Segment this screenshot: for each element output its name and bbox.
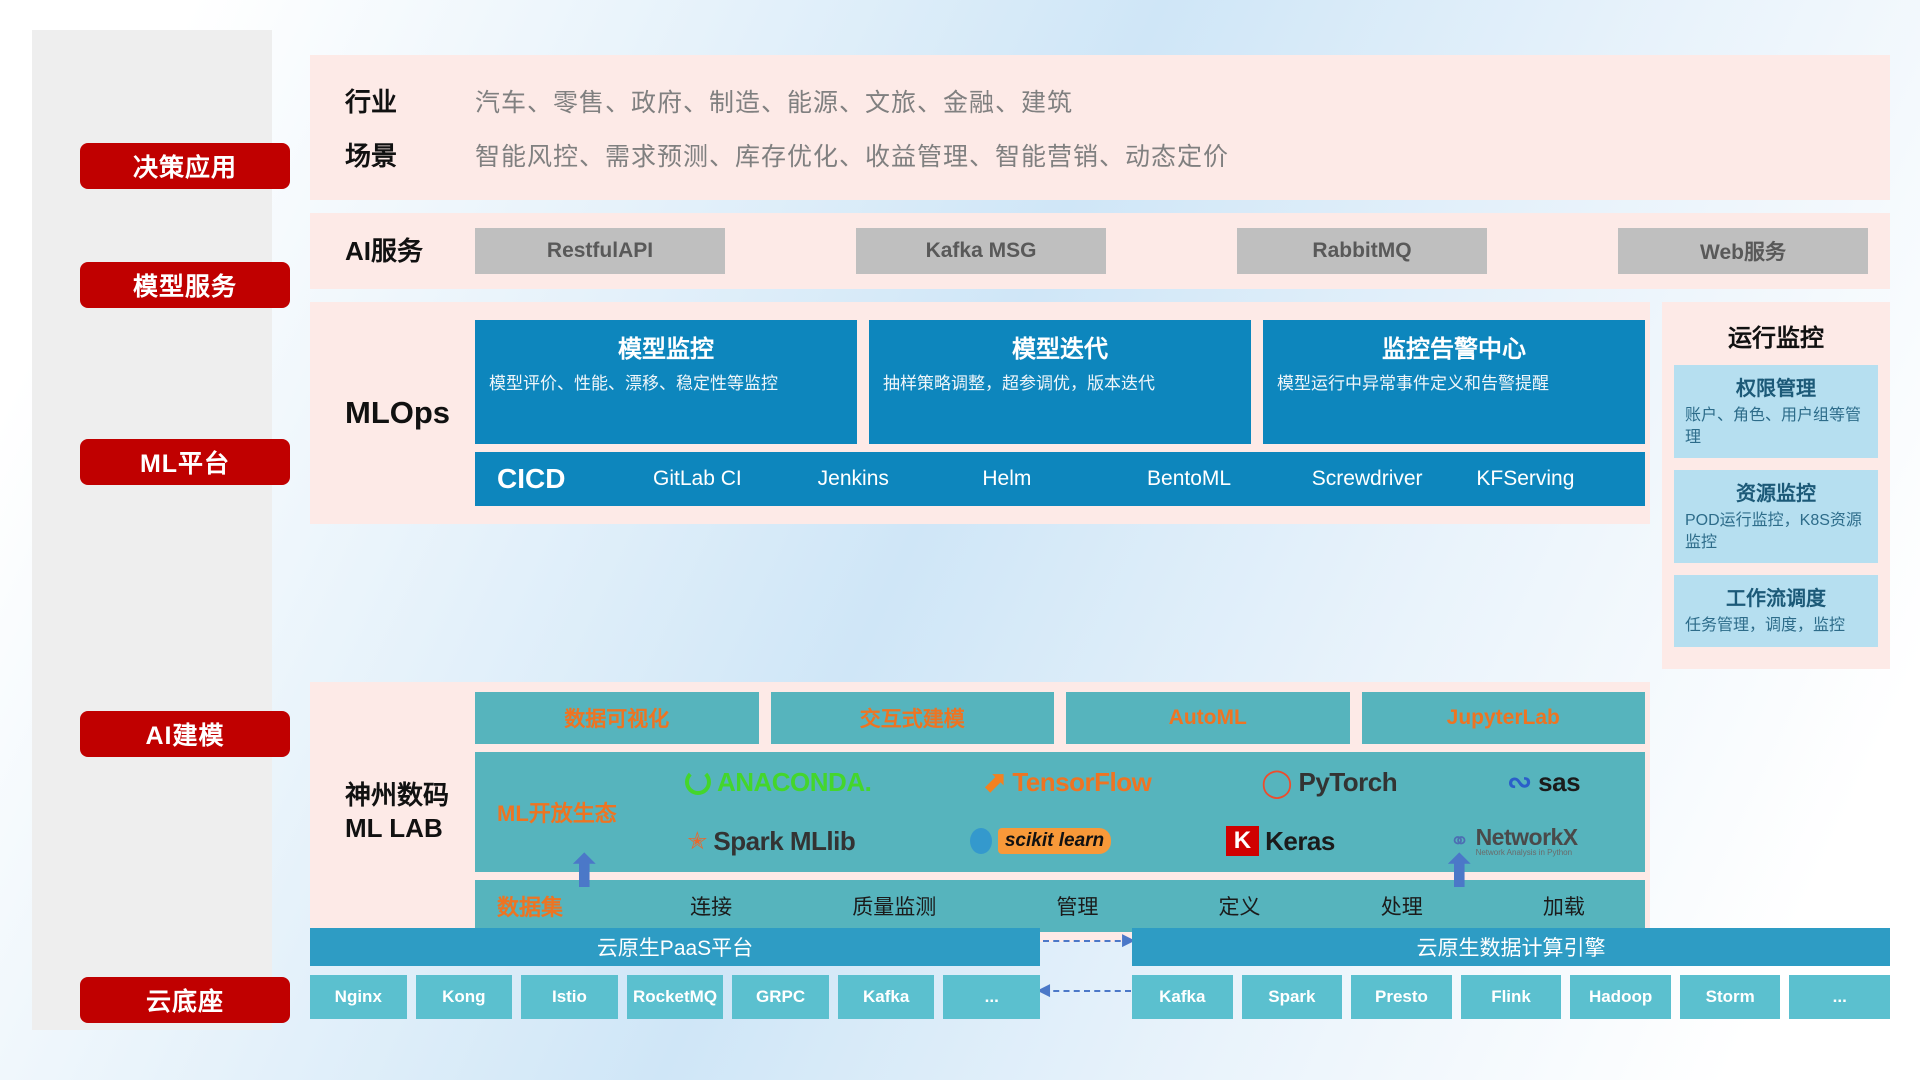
stage-chip-label: 云底座 (146, 982, 224, 1018)
ml-lab-tool-interactive-modeling[interactable]: 交互式建模 (771, 692, 1055, 744)
monitor-card-resource[interactable]: 资源监控 POD运行监控，K8S资源监控 (1674, 470, 1878, 563)
monitor-card-desc: 任务管理，调度，监控 (1685, 615, 1867, 637)
runtime-monitor-title: 运行监控 (1674, 318, 1878, 353)
tech-chip-more-engine[interactable]: ... (1789, 975, 1890, 1019)
industry-value: 汽车、零售、政府、制造、能源、文旅、金融、建筑 (475, 83, 1073, 119)
tech-chip-rocketmq[interactable]: RocketMQ (627, 975, 724, 1019)
scikit-learn-logo-text: scikit learn (998, 828, 1111, 854)
service-chip-rabbitmq[interactable]: RabbitMQ (1237, 228, 1487, 274)
cicd-title: CICD (497, 463, 647, 495)
service-chip-label: Kafka MSG (926, 239, 1037, 263)
ml-ecosystem-label: ML开放生态 (475, 796, 630, 828)
ai-service-list: RestfulAPI Kafka MSG RabbitMQ Web服务 (475, 228, 1890, 274)
spark-mllib-logo: ✭ Spark MLlib (687, 826, 855, 857)
service-chip-restfulapi[interactable]: RestfulAPI (475, 228, 725, 274)
tensorflow-logo-text: TensorFlow (1012, 767, 1151, 798)
ml-ecosystem-logos: ANACONDA. ⬈ TensorFlow ◯ PyTorch ∾ sas (630, 754, 1645, 869)
mlops-card-model-monitoring[interactable]: 模型监控 模型评价、性能、漂移、稳定性等监控 (475, 320, 857, 444)
scenario-key: 场景 (345, 136, 475, 173)
cicd-item-gitlab-ci[interactable]: GitLab CI (647, 467, 812, 491)
stage-chip-decision-app[interactable]: 决策应用 (80, 143, 290, 189)
cicd-item-screwdriver[interactable]: Screwdriver (1306, 467, 1471, 491)
industry-key: 行业 (345, 82, 475, 119)
tech-chip-nginx[interactable]: Nginx (310, 975, 407, 1019)
tensorflow-icon: ⬈ (981, 765, 1006, 800)
scenario-row: 场景 智能风控、需求预测、库存优化、收益管理、智能营销、动态定价 (345, 136, 1890, 173)
cicd-bar: CICD GitLab CI Jenkins Helm BentoML Scre… (475, 452, 1645, 506)
pytorch-icon: ◯ (1261, 766, 1292, 799)
cicd-item-kfserving[interactable]: KFServing (1470, 467, 1635, 491)
service-chip-label: RestfulAPI (547, 239, 653, 263)
dashed-connector-right (1043, 940, 1131, 942)
ai-service-label: AI服务 (345, 235, 475, 268)
stage-chip-cloud-base[interactable]: 云底座 (80, 977, 290, 1023)
tech-chip-more[interactable]: ... (943, 975, 1040, 1019)
tech-chip-spark[interactable]: Spark (1242, 975, 1343, 1019)
industry-scenario-band: 行业 汽车、零售、政府、制造、能源、文旅、金融、建筑 场景 智能风控、需求预测、… (310, 55, 1890, 200)
sas-icon: ∾ (1507, 765, 1532, 800)
tech-chip-kafka-engine[interactable]: Kafka (1132, 975, 1233, 1019)
spark-star-icon: ✭ (687, 827, 707, 856)
tensorflow-logo: ⬈ TensorFlow (981, 765, 1151, 800)
ml-lab-label: 神州数码 ML LAB (345, 779, 475, 844)
pytorch-logo-text: PyTorch (1299, 767, 1398, 798)
stage-chip-ai-modeling[interactable]: AI建模 (80, 711, 290, 757)
monitor-card-title: 工作流调度 (1685, 582, 1867, 611)
monitor-card-permission[interactable]: 权限管理 账户、角色、用户组等管理 (1674, 365, 1878, 458)
tech-chip-flink[interactable]: Flink (1461, 975, 1562, 1019)
monitor-card-desc: POD运行监控，K8S资源监控 (1685, 510, 1867, 553)
mlops-content: 模型监控 模型评价、性能、漂移、稳定性等监控 模型迭代 抽样策略调整，超参调优，… (475, 320, 1650, 506)
mlops-card-alert-center[interactable]: 监控告警中心 模型运行中异常事件定义和告警提醒 (1263, 320, 1645, 444)
cicd-item-jenkins[interactable]: Jenkins (812, 467, 977, 491)
cloud-data-engine-group: 云原生数据计算引擎 Kafka Spark Presto Flink Hadoo… (1132, 928, 1890, 1019)
mlops-card-desc: 模型运行中异常事件定义和告警提醒 (1277, 372, 1631, 395)
mlops-band: MLOps 模型监控 模型评价、性能、漂移、稳定性等监控 模型迭代 抽样策略调整… (310, 302, 1650, 524)
cicd-item-bentoml[interactable]: BentoML (1141, 467, 1306, 491)
stage-chip-model-service[interactable]: 模型服务 (80, 262, 290, 308)
service-chip-web-service[interactable]: Web服务 (1618, 228, 1868, 274)
networkx-logo-text: NetworkX (1476, 826, 1578, 849)
architecture-main: 行业 汽车、零售、政府、制造、能源、文旅、金融、建筑 场景 智能风控、需求预测、… (310, 55, 1890, 942)
mlops-card-desc: 模型评价、性能、漂移、稳定性等监控 (489, 372, 843, 395)
tech-chip-storm[interactable]: Storm (1680, 975, 1781, 1019)
service-chip-kafka-msg[interactable]: Kafka MSG (856, 228, 1106, 274)
tech-chip-presto[interactable]: Presto (1351, 975, 1452, 1019)
ml-lab-tool-data-visualization[interactable]: 数据可视化 (475, 692, 759, 744)
ml-lab-tool-automl[interactable]: AutoML (1066, 692, 1350, 744)
runtime-monitor-rail: 运行监控 权限管理 账户、角色、用户组等管理 资源监控 POD运行监控，K8S资… (1662, 302, 1890, 669)
monitor-card-workflow[interactable]: 工作流调度 任务管理，调度，监控 (1674, 575, 1878, 647)
logo-row-2: ✭ Spark MLlib scikit learn K Keras ⚭ (630, 813, 1635, 869)
tech-chip-grpc[interactable]: GRPC (732, 975, 829, 1019)
spark-mllib-logo-text: Spark MLlib (713, 826, 855, 857)
ai-service-band: AI服务 RestfulAPI Kafka MSG RabbitMQ Web服务 (310, 213, 1890, 289)
service-chip-label: Web服务 (1700, 236, 1786, 266)
mlops-card-desc: 抽样策略调整，超参调优，版本迭代 (883, 372, 1237, 395)
sas-logo: ∾ sas (1507, 765, 1580, 800)
tech-chip-kafka[interactable]: Kafka (838, 975, 935, 1019)
keras-icon: K (1226, 826, 1259, 856)
pytorch-logo: ◯ PyTorch (1261, 766, 1397, 799)
stage-chip-label: 决策应用 (133, 148, 237, 184)
tech-chip-kong[interactable]: Kong (416, 975, 513, 1019)
mlops-card-title: 模型迭代 (883, 329, 1237, 364)
monitor-card-title: 权限管理 (1685, 372, 1867, 401)
logo-row-1: ANACONDA. ⬈ TensorFlow ◯ PyTorch ∾ sas (630, 754, 1635, 810)
monitor-card-title: 资源监控 (1685, 477, 1867, 506)
mlops-card-list: 模型监控 模型评价、性能、漂移、稳定性等监控 模型迭代 抽样策略调整，超参调优，… (475, 320, 1645, 444)
scikit-blob-icon (970, 828, 992, 854)
service-chip-label: RabbitMQ (1312, 239, 1411, 263)
cloud-data-engine-title: 云原生数据计算引擎 (1132, 928, 1890, 966)
ml-lab-tool-jupyterlab[interactable]: JupyterLab (1362, 692, 1646, 744)
anaconda-icon (685, 769, 711, 795)
scikit-learn-logo: scikit learn (970, 828, 1111, 854)
industry-row: 行业 汽车、零售、政府、制造、能源、文旅、金融、建筑 (345, 82, 1890, 119)
stage-chip-label: 模型服务 (133, 267, 237, 303)
cicd-item-list: GitLab CI Jenkins Helm BentoML Screwdriv… (647, 467, 1635, 491)
ml-lab-tool-list: 数据可视化 交互式建模 AutoML JupyterLab (475, 692, 1645, 744)
dashed-connector-left (1043, 990, 1131, 992)
mlops-card-title: 模型监控 (489, 329, 843, 364)
mlops-and-monitor-wrap: MLOps 模型监控 模型评价、性能、漂移、稳定性等监控 模型迭代 抽样策略调整… (310, 302, 1890, 669)
cicd-item-helm[interactable]: Helm (976, 467, 1141, 491)
anaconda-logo: ANACONDA. (685, 767, 871, 798)
stage-rail: 决策应用 模型服务 ML平台 AI建模 云底座 (32, 30, 272, 1030)
stage-chip-ml-platform[interactable]: ML平台 (80, 439, 290, 485)
monitor-card-desc: 账户、角色、用户组等管理 (1685, 405, 1867, 448)
cloud-data-engine-chip-row: Kafka Spark Presto Flink Hadoop Storm ..… (1132, 975, 1890, 1019)
tech-chip-istio[interactable]: Istio (521, 975, 618, 1019)
keras-logo-text: Keras (1265, 826, 1335, 857)
sas-logo-text: sas (1538, 767, 1580, 798)
tech-chip-hadoop[interactable]: Hadoop (1570, 975, 1671, 1019)
scenario-value: 智能风控、需求预测、库存优化、收益管理、智能营销、动态定价 (475, 137, 1229, 173)
cloud-paas-title: 云原生PaaS平台 (310, 928, 1040, 966)
cloud-base-section: ⬆ ⬆ ▶ ◀ 云原生PaaS平台 Nginx Kong Istio Rocke… (310, 890, 1890, 1050)
stage-chip-label: AI建模 (145, 716, 224, 752)
networkx-subtitle: Network Analysis in Python (1476, 849, 1578, 857)
stage-chip-label: ML平台 (140, 444, 230, 480)
anaconda-logo-text: ANACONDA. (717, 767, 871, 798)
cloud-paas-group: 云原生PaaS平台 Nginx Kong Istio RocketMQ GRPC… (310, 928, 1040, 1019)
keras-logo: K Keras (1226, 826, 1335, 857)
cloud-paas-chip-row: Nginx Kong Istio RocketMQ GRPC Kafka ... (310, 975, 1040, 1019)
mlops-card-title: 监控告警中心 (1277, 329, 1631, 364)
mlops-label: MLOps (345, 394, 475, 433)
mlops-card-model-iteration[interactable]: 模型迭代 抽样策略调整，超参调优，版本迭代 (869, 320, 1251, 444)
